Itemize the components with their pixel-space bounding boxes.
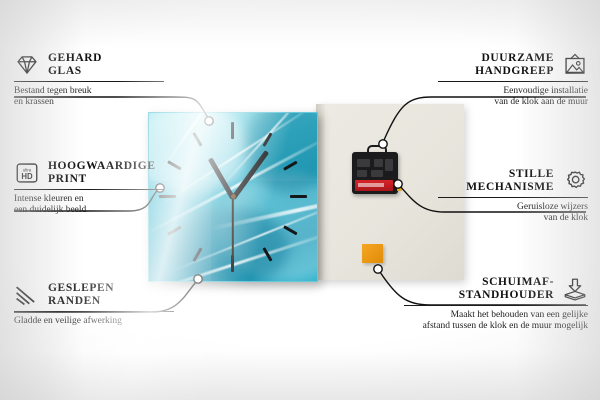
picture-frame-hanger-icon — [562, 53, 588, 77]
infographic-canvas: GEHARD GLAS Bestand tegen breuk en krass… — [0, 0, 600, 400]
diamond-icon — [14, 53, 40, 77]
second-hand — [232, 198, 234, 260]
feature-divider — [438, 197, 588, 198]
feature-divider — [14, 81, 164, 82]
battery — [355, 180, 393, 191]
ultra-hd-icon: ultra HD — [14, 161, 40, 185]
feature-divider — [404, 305, 588, 306]
feature-title: GESLEPEN RANDEN — [48, 282, 114, 308]
tick-3 — [290, 195, 307, 198]
feature-title: SCHUIMAF- STANDHOUDER — [459, 276, 554, 302]
feature-header: DUURZAME HANDGREEP — [438, 52, 588, 78]
feature-desc: Bestand tegen breuk en krassen — [14, 86, 164, 108]
feature-header: SCHUIMAF- STANDHOUDER — [404, 276, 588, 302]
feature-header: STILLE MECHANISME — [438, 168, 588, 194]
product-front-clock — [148, 112, 318, 282]
press-down-pad-icon — [562, 277, 588, 301]
feature-duurzame-handgreep: DUURZAME HANDGREEP Eenvoudige installati… — [438, 52, 588, 108]
battery-terminal — [397, 182, 402, 191]
feature-title: STILLE MECHANISME — [466, 168, 554, 194]
feature-title: GEHARD GLAS — [48, 52, 102, 78]
gear-icon — [562, 169, 588, 193]
feature-schuimaf-standhouder: SCHUIMAF- STANDHOUDER Maakt het behouden… — [404, 276, 588, 332]
svg-text:HD: HD — [21, 172, 33, 181]
feature-title: DUURZAME HANDGREEP — [475, 52, 554, 78]
feature-desc: Intense kleuren en een duidelijk beeld — [14, 194, 164, 216]
hanger-hook — [367, 145, 387, 156]
beveled-edges-icon — [14, 283, 40, 307]
feature-desc: Gladde en veilige afwerking — [14, 316, 174, 327]
movement-slot — [385, 159, 393, 171]
artwork-quadrant — [213, 113, 317, 181]
feature-gehard-glas: GEHARD GLAS Bestand tegen breuk en krass… — [14, 52, 164, 108]
feature-stille-mechanisme: STILLE MECHANISME Geruisloze wijzers van… — [438, 168, 588, 224]
movement-slot — [357, 170, 367, 177]
feature-title: HOOGWAARDIGE PRINT — [48, 160, 156, 186]
movement-slot — [374, 159, 383, 167]
feature-desc: Maakt het behouden van een gelijke afsta… — [404, 310, 588, 332]
feature-geslepen-randen: GESLEPEN RANDEN Gladde en veilige afwerk… — [14, 282, 174, 327]
clock-movement — [352, 152, 398, 194]
movement-slot — [357, 159, 370, 167]
feature-divider — [438, 81, 588, 82]
feature-header: GESLEPEN RANDEN — [14, 282, 174, 308]
movement-slot — [371, 170, 383, 177]
feature-header: ultra HD HOOGWAARDIGE PRINT — [14, 160, 164, 186]
foam-spacer-pad — [362, 244, 383, 263]
feature-desc: Eenvoudige installatie van de klok aan d… — [438, 86, 588, 108]
tick-12 — [231, 122, 234, 139]
feature-divider — [14, 189, 164, 190]
feature-hoogwaardige-print: ultra HD HOOGWAARDIGE PRINT Intense kleu… — [14, 160, 164, 216]
center-pin — [231, 194, 236, 199]
battery-label — [358, 183, 384, 187]
feature-desc: Geruisloze wijzers van de klok — [438, 202, 588, 224]
feature-header: GEHARD GLAS — [14, 52, 164, 78]
feature-divider — [14, 311, 174, 312]
